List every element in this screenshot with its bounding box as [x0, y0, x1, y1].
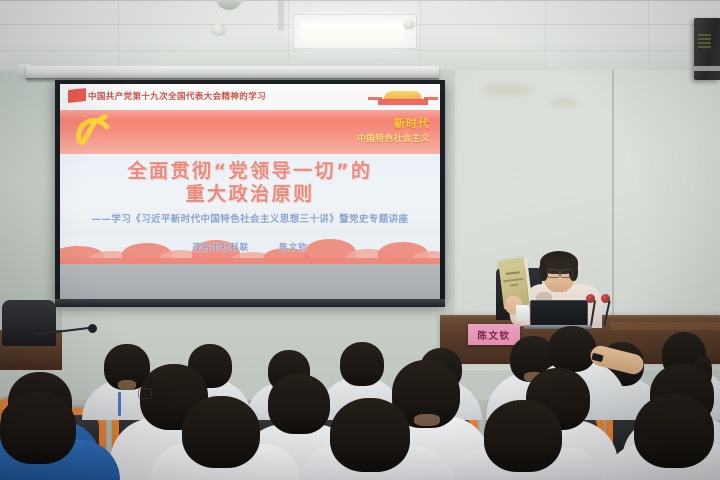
side-chair: [2, 300, 56, 346]
hammer-and-sickle-icon: [74, 115, 116, 149]
slide-title-line1: 全面贯彻“党领导一切”的: [60, 160, 440, 183]
party-flag-icon: [68, 88, 86, 103]
slide-title-line2: 重大政治原则: [60, 183, 440, 206]
eyeglasses-icon: [138, 388, 152, 399]
credit-organization: 茂名市社科联: [192, 243, 249, 253]
screen-bottom-edge: [55, 299, 445, 307]
tiananmen-icon: [368, 88, 438, 106]
wall-speaker-icon: [694, 18, 720, 80]
slide-era-subtitle: 中国特色社会主义: [357, 132, 430, 144]
presentation-slide: 中国共产党第十九次全国代表大会精神的学习 新时代 中国特色社会主义 全面贯彻“党…: [60, 84, 440, 299]
ceiling: [0, 0, 720, 74]
credit-presenter-name: 陈文钦: [279, 243, 308, 253]
ceiling-spotlight: [215, 0, 243, 10]
wall-corner-edge: [612, 70, 614, 340]
band-highlight: [60, 110, 440, 120]
smoke-detector-icon: [404, 20, 414, 28]
presenter-glasses-right: [560, 269, 573, 278]
lecture-hall-photo: 中国共产党第十九次全国代表大会精神的学习 新时代 中国特色社会主义 全面贯彻“党…: [0, 0, 720, 480]
slide-credit-line: 茂名市社科联 陈文钦: [60, 241, 440, 253]
microphone-head-icon: [88, 324, 97, 333]
slide-header-text: 中国共产党第十九次全国代表大会精神的学习: [88, 90, 266, 102]
desk-rail: [610, 322, 720, 330]
microphone-icon: [586, 294, 595, 303]
placard-name-text: 陈文钦: [477, 328, 510, 342]
left-wall: [0, 74, 62, 334]
slide-footer-band: [60, 264, 440, 299]
recessed-light-panel: [300, 22, 405, 40]
laptop-icon[interactable]: [530, 300, 588, 328]
slide-era-title: 新时代: [394, 115, 430, 131]
smoke-detector-icon: [212, 24, 225, 34]
projection-screen[interactable]: 中国共产党第十九次全国代表大会精神的学习 新时代 中国特色社会主义 全面贯彻“党…: [60, 84, 440, 299]
cup-icon: [516, 305, 529, 321]
presenter-glasses-left: [547, 269, 560, 278]
ceiling-vent: [278, 0, 284, 30]
projector-screen-roller: [26, 66, 439, 78]
slide-subtitle: ——学习《习近平新时代中国特色社会主义思想三十讲》暨党史专题讲座: [60, 211, 440, 225]
microphone-icon: [601, 294, 610, 303]
name-placard: 陈文钦: [468, 324, 520, 345]
